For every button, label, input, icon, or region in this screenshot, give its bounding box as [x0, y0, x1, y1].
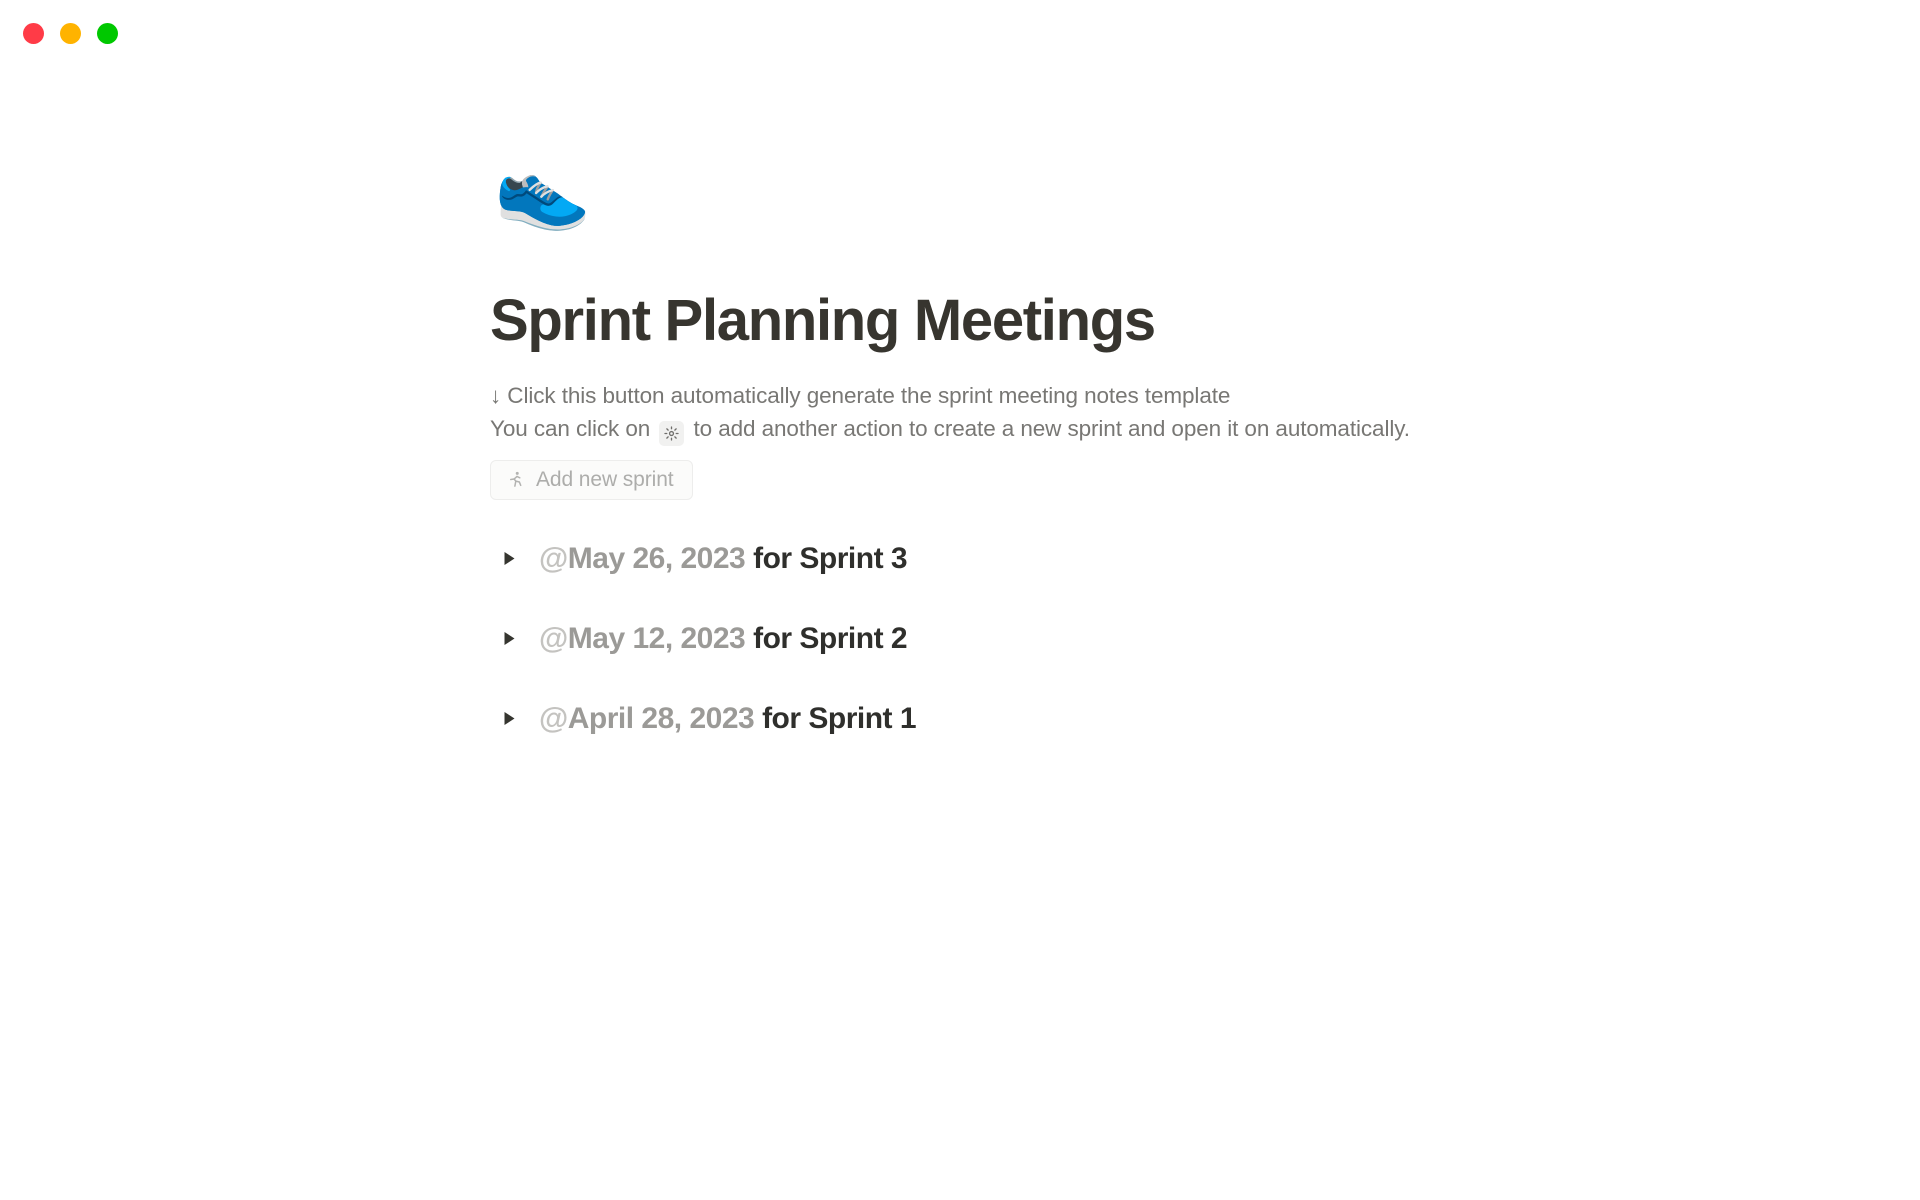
mention-date: May 26, 2023 [568, 542, 745, 575]
sprint-toggle-list: @May 26, 2023 for Sprint 3 @May 12, 2023… [490, 536, 1470, 742]
maximize-window-button[interactable] [97, 23, 118, 44]
toggle-row[interactable]: @May 26, 2023 for Sprint 3 [490, 536, 1470, 582]
sprint-label: for Sprint 2 [753, 622, 907, 655]
description-line-2-before: You can click on [490, 416, 650, 441]
add-new-sprint-label: Add new sprint [536, 469, 674, 490]
chevron-right-icon[interactable] [503, 551, 531, 566]
toggle-row[interactable]: @May 12, 2023 for Sprint 2 [490, 616, 1470, 662]
running-person-icon [505, 470, 525, 490]
minimize-window-button[interactable] [60, 23, 81, 44]
sprint-suffix [745, 542, 753, 575]
chevron-right-icon[interactable] [503, 711, 531, 726]
date-mention[interactable]: @May 12, 2023 [539, 622, 745, 655]
add-new-sprint-button[interactable]: Add new sprint [490, 460, 693, 500]
mention-at-symbol: @ [539, 542, 568, 575]
sprint-suffix [754, 702, 762, 735]
page-icon[interactable]: 👟 [490, 140, 1470, 236]
mention-date: April 28, 2023 [568, 702, 754, 735]
toggle-row-text: @May 12, 2023 for Sprint 2 [539, 624, 907, 654]
running-shoe-emoji: 👟 [494, 149, 591, 227]
traffic-light-group [23, 23, 118, 44]
sprint-label: for Sprint 1 [762, 702, 916, 735]
gear-icon[interactable] [659, 421, 684, 446]
sprint-label: for Sprint 3 [753, 542, 907, 575]
toggle-row[interactable]: @April 28, 2023 for Sprint 1 [490, 696, 1470, 742]
page-description: ↓ Click this button automatically genera… [490, 379, 1470, 446]
date-mention[interactable]: @May 26, 2023 [539, 542, 745, 575]
sprint-suffix [745, 622, 753, 655]
description-line-1: ↓ Click this button automatically genera… [490, 379, 1470, 412]
toggle-row-text: @May 26, 2023 for Sprint 3 [539, 544, 907, 574]
description-line-2-after: to add another action to create a new sp… [694, 416, 1410, 441]
mention-date: May 12, 2023 [568, 622, 745, 655]
mention-at-symbol: @ [539, 702, 568, 735]
mention-at-symbol: @ [539, 622, 568, 655]
close-window-button[interactable] [23, 23, 44, 44]
toggle-row-text: @April 28, 2023 for Sprint 1 [539, 704, 916, 734]
page-content: 👟 Sprint Planning Meetings ↓ Click this … [490, 140, 1470, 742]
description-line-2: You can click on to add another act [490, 412, 1470, 446]
app-window: 👟 Sprint Planning Meetings ↓ Click this … [0, 0, 1920, 1200]
date-mention[interactable]: @April 28, 2023 [539, 702, 754, 735]
page-title[interactable]: Sprint Planning Meetings [490, 290, 1470, 353]
window-titlebar [0, 0, 1920, 64]
chevron-right-icon[interactable] [503, 631, 531, 646]
